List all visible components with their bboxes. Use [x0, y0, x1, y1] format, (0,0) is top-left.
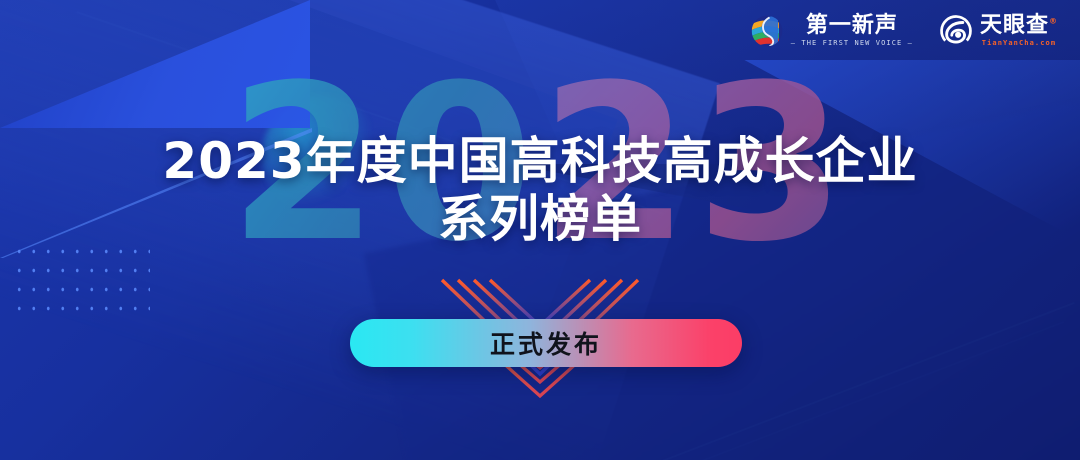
decor-dot-grid [10, 240, 150, 316]
logo-tianyancha[interactable]: 天眼查® TianYanCha.com [939, 14, 1058, 48]
page-title-line-1: 2023年度中国高科技高成长企业 [0, 132, 1080, 190]
page-title-line-2: 系列榜单 [0, 190, 1080, 248]
release-cta-button[interactable]: 正式发布 [350, 319, 742, 367]
page-title: 2023年度中国高科技高成长企业 系列榜单 [0, 132, 1080, 248]
logo-diyixinsheng-text: 第一新声 — THE FIRST NEW VOICE — [791, 15, 913, 47]
release-cta-label: 正式发布 [490, 325, 602, 361]
logo-diyixinsheng-tagline: — THE FIRST NEW VOICE — [791, 40, 913, 47]
logo-bar: 第一新声 — THE FIRST NEW VOICE — 天眼查® TianYa… [750, 14, 1058, 48]
logo-diyixinsheng-name: 第一新声 [806, 15, 898, 37]
logo-registered-mark: ® [1049, 17, 1058, 26]
logo-tianyancha-tagline: TianYanCha.com [982, 40, 1056, 47]
promo-banner: 2023 [0, 0, 1080, 460]
swirl-ribbon-logo-icon [750, 14, 784, 48]
logo-diyixinsheng[interactable]: 第一新声 — THE FIRST NEW VOICE — [750, 14, 913, 48]
logo-tianyancha-name-cn: 天眼查 [980, 13, 1049, 38]
eye-aperture-logo-icon [939, 14, 973, 48]
logo-tianyancha-text: 天眼查® TianYanCha.com [980, 15, 1058, 47]
logo-tianyancha-name: 天眼查® [980, 15, 1058, 37]
